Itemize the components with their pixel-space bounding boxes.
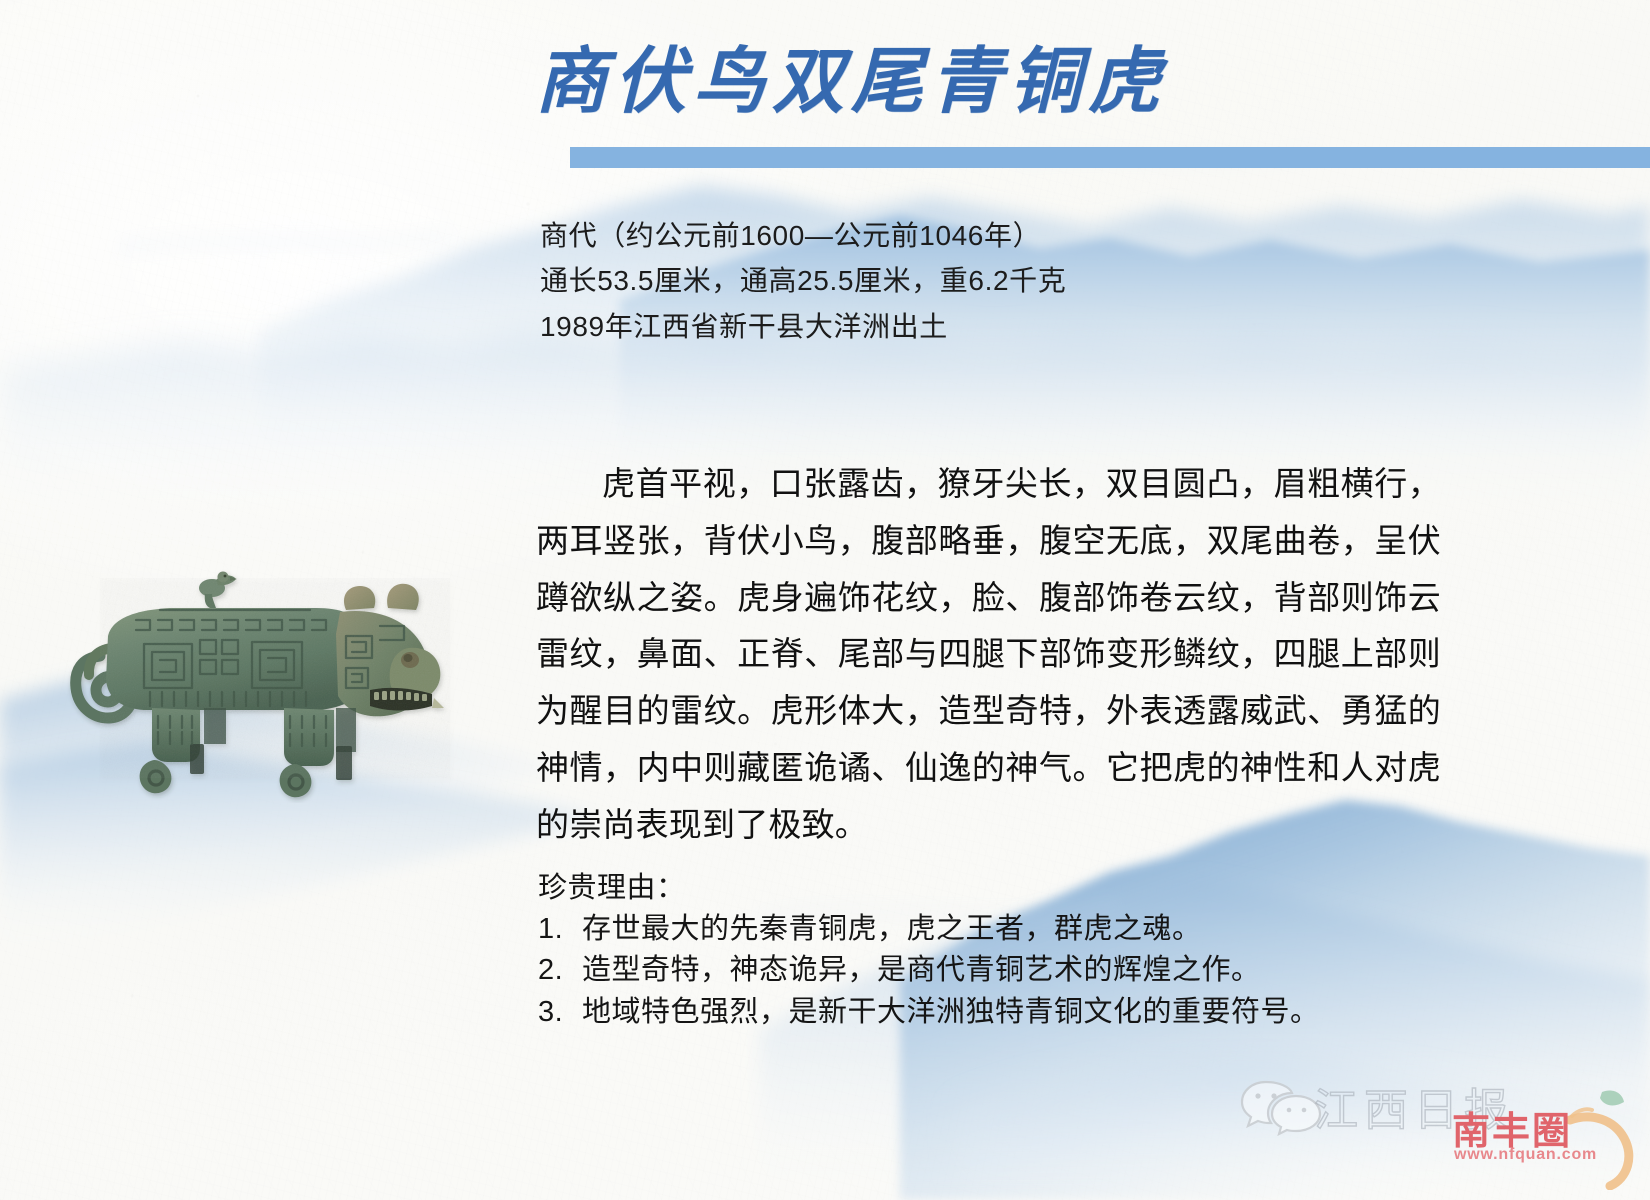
reason-text: 地域特色强烈，是新干大洋洲独特青铜文化的重要符号。 [582,992,1468,1033]
reason-item-1: 1. 存世最大的先秦青铜虎，虎之王者，群虎之魂。 [538,909,1468,950]
poster-page: 商伏鸟双尾青铜虎 商代（约公元前1600—公元前1046年） 通长53.5厘米，… [0,0,1650,1200]
reasons-block: 珍贵理由： 1. 存世最大的先秦青铜虎，虎之王者，群虎之魂。 2. 造型奇特，神… [538,868,1468,1033]
meta-line-period: 商代（约公元前1600—公元前1046年） [540,213,1540,258]
artifact-meta-block: 商代（约公元前1600—公元前1046年） 通长53.5厘米，通高25.5厘米，… [540,213,1540,349]
reason-item-2: 2. 造型奇特，神态诡异，是商代青铜艺术的辉煌之作。 [538,950,1468,991]
reason-number: 3. [538,992,582,1033]
reason-item-3: 3. 地域特色强烈，是新干大洋洲独特青铜文化的重要符号。 [538,992,1468,1033]
orange-ring-icon [1570,1090,1629,1186]
title-underline-bar [570,147,1650,168]
reason-number: 2. [538,950,582,991]
title-block: 商伏鸟双尾青铜虎 [535,44,1585,122]
page-title: 商伏鸟双尾青铜虎 [535,44,1585,122]
meta-line-excavation: 1989年江西省新干县大洋洲出土 [540,304,1540,349]
artifact-photo-bronze-tiger [40,548,460,803]
description-paragraph: 虎首平视，口张露齿，獠牙尖长，双目圆凸，眉粗横行，两耳竖张，背伏小鸟，腹部略垂，… [536,457,1441,854]
reason-text: 造型奇特，神态诡异，是商代青铜艺术的辉煌之作。 [582,950,1468,991]
meta-line-dimensions: 通长53.5厘米，通高25.5厘米，重6.2千克 [540,258,1540,303]
description-block: 虎首平视，口张露齿，獠牙尖长，双目圆凸，眉粗横行，两耳竖张，背伏小鸟，腹部略垂，… [536,424,1441,887]
nanfengquan-logo[interactable]: 南丰圈 www.nfquan.com [1452,1086,1642,1190]
reason-text: 存世最大的先秦青铜虎，虎之王者，群虎之魂。 [582,909,1468,950]
nanfengquan-logo-url: www.nfquan.com [1454,1146,1597,1164]
reasons-heading: 珍贵理由： [538,868,1468,909]
reason-number: 1. [538,909,582,950]
